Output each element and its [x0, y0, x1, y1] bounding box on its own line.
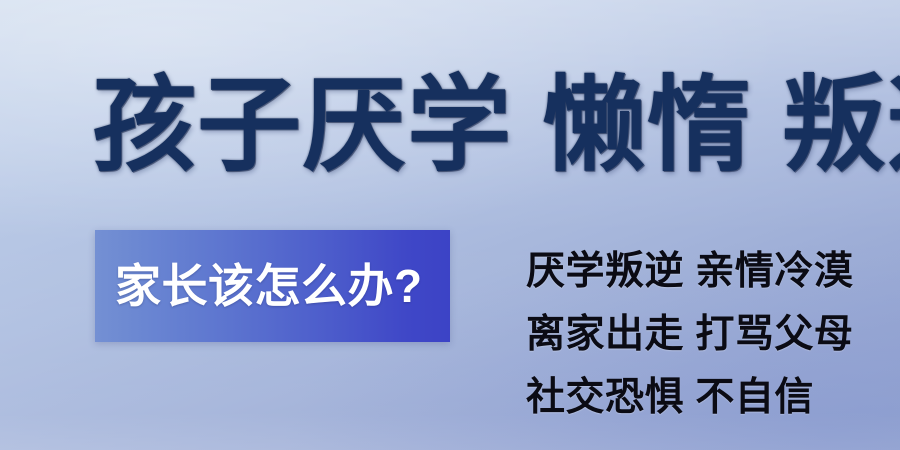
symptom-line: 厌学叛逆 亲情冷漠: [526, 240, 886, 303]
cta-banner: 家长该怎么办?: [95, 230, 450, 342]
symptom-line: 离家出走 打骂父母: [526, 303, 886, 366]
poster-canvas: 孩子厌学 懒惰 叛逆 家长该怎么办? 厌学叛逆 亲情冷漠 离家出走 打骂父母 社…: [0, 0, 900, 450]
symptom-line: 社交恐惧 不自信: [526, 366, 886, 429]
symptom-list: 厌学叛逆 亲情冷漠 离家出走 打骂父母 社交恐惧 不自信: [526, 240, 886, 429]
cta-banner-text: 家长该怎么办?: [115, 263, 423, 309]
poster-headline: 孩子厌学 懒惰 叛逆: [92, 62, 822, 190]
